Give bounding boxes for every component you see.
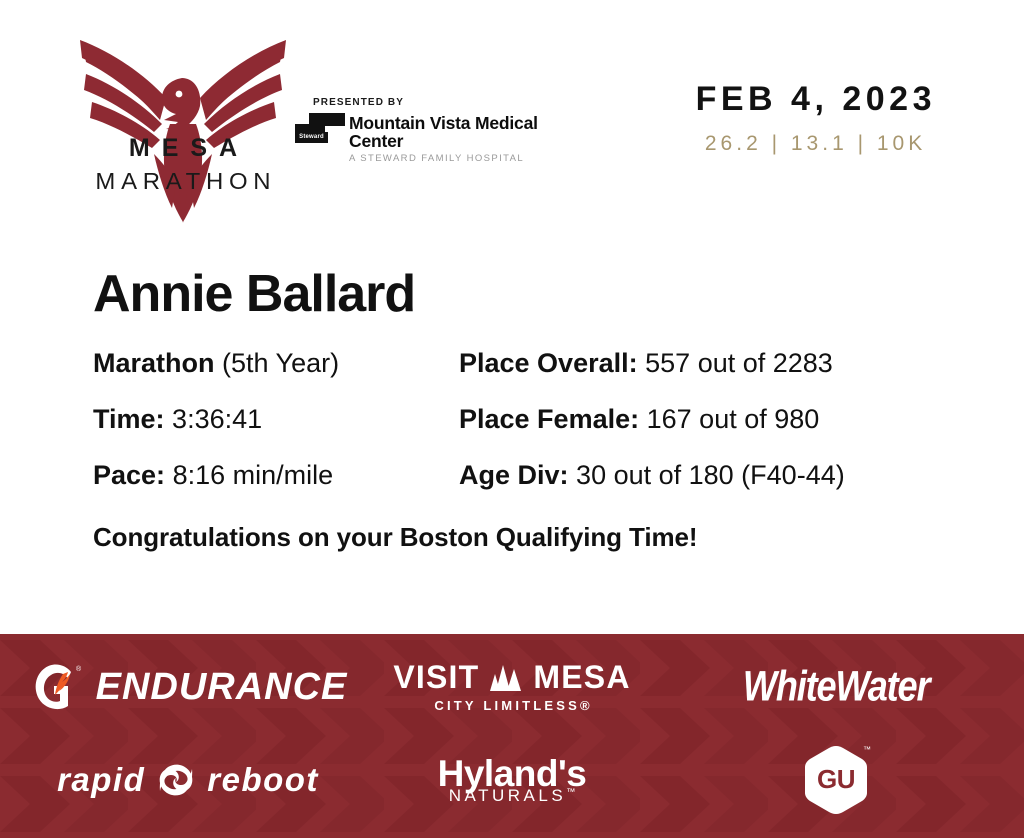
visit-mesa-word1: VISIT xyxy=(393,661,479,693)
mountain-icon xyxy=(486,662,526,692)
event-distances: 26.2 | 13.1 | 10K xyxy=(691,133,936,154)
visit-mesa-word2: MESA xyxy=(533,661,630,693)
steward-logo-icon: Steward xyxy=(295,113,345,145)
steward-mark-label: Steward xyxy=(295,132,328,143)
sponsor-visit-mesa: VISIT MESA CITY LIMITLESS® xyxy=(350,661,674,712)
sponsor-gu: GU ™ xyxy=(674,743,998,817)
stat-time: Time: 3:36:41 xyxy=(93,404,459,436)
congratulations-message: Congratulations on your Boston Qualifyin… xyxy=(93,522,953,553)
results-section: Annie Ballard Marathon (5th Year) Place … xyxy=(93,268,953,553)
presented-by-label: PRESENTED BY xyxy=(313,98,565,108)
presenting-sponsor: PRESENTED BY Steward Mountain Vista Medi… xyxy=(295,98,565,163)
stat-pace-value: 8:16 min/mile xyxy=(173,460,334,490)
eagle-icon xyxy=(78,28,288,223)
stat-place-overall: Place Overall: 557 out of 2283 xyxy=(459,348,953,380)
mesa-marathon-logo: MESA MARATHON xyxy=(78,28,288,223)
whitewater-label: WhiteWater xyxy=(743,665,930,708)
stat-place-overall-value: 557 out of 2283 xyxy=(645,348,833,378)
gatorade-g-icon: ® xyxy=(29,660,83,714)
stat-age-div: Age Div: 30 out of 180 (F40-44) xyxy=(459,460,953,492)
hospital-name: Mountain Vista Medical Center xyxy=(349,114,565,151)
svg-text:®: ® xyxy=(76,665,82,673)
stat-race-value: (5th Year) xyxy=(222,348,339,378)
sponsor-rapid-reboot: rapid reboot xyxy=(26,763,350,797)
gu-tm: ™ xyxy=(863,745,871,754)
stat-time-value: 3:36:41 xyxy=(172,404,262,434)
visit-mesa-tagline: CITY LIMITLESS® xyxy=(393,699,630,712)
stats-grid: Marathon (5th Year) Place Overall: 557 o… xyxy=(93,348,953,492)
stat-time-label: Time: xyxy=(93,404,165,434)
header: MESA MARATHON PRESENTED BY Steward Mount… xyxy=(0,0,1024,250)
stat-age-div-label: Age Div: xyxy=(459,460,569,490)
sponsor-whitewater: WhiteWater xyxy=(674,668,998,706)
sponsor-footer: ® ENDURANCE VISIT MESA CITY LIMITLESS® xyxy=(0,634,1024,838)
hospital-tagline: A STEWARD FAMILY HOSPITAL xyxy=(349,154,565,164)
sponsor-hylands: Hyland's NATURALS™ xyxy=(350,755,674,804)
event-date-block: FEB 4, 2023 26.2 | 13.1 | 10K xyxy=(691,82,936,154)
stat-pace-label: Pace: xyxy=(93,460,165,490)
stat-place-female: Place Female: 167 out of 980 xyxy=(459,404,953,436)
hylands-label: Hyland's xyxy=(438,755,587,792)
sponsor-gatorade-endurance: ® ENDURANCE xyxy=(26,660,350,714)
gatorade-endurance-label: ENDURANCE xyxy=(96,668,348,706)
stat-age-div-value: 30 out of 180 (F40-44) xyxy=(576,460,845,490)
stat-race: Marathon (5th Year) xyxy=(93,348,459,380)
stat-race-label: Marathon xyxy=(93,348,215,378)
stat-pace: Pace: 8:16 min/mile xyxy=(93,460,459,492)
rapid-reboot-word1: rapid xyxy=(57,763,145,796)
stat-place-overall-label: Place Overall: xyxy=(459,348,638,378)
rapid-reboot-word2: reboot xyxy=(207,763,319,796)
stat-place-female-value: 167 out of 980 xyxy=(647,404,820,434)
gu-label: GU xyxy=(799,743,873,817)
swoosh-icon xyxy=(154,763,198,797)
athlete-name: Annie Ballard xyxy=(93,268,953,320)
stat-place-female-label: Place Female: xyxy=(459,404,639,434)
event-date: FEB 4, 2023 xyxy=(691,82,936,116)
